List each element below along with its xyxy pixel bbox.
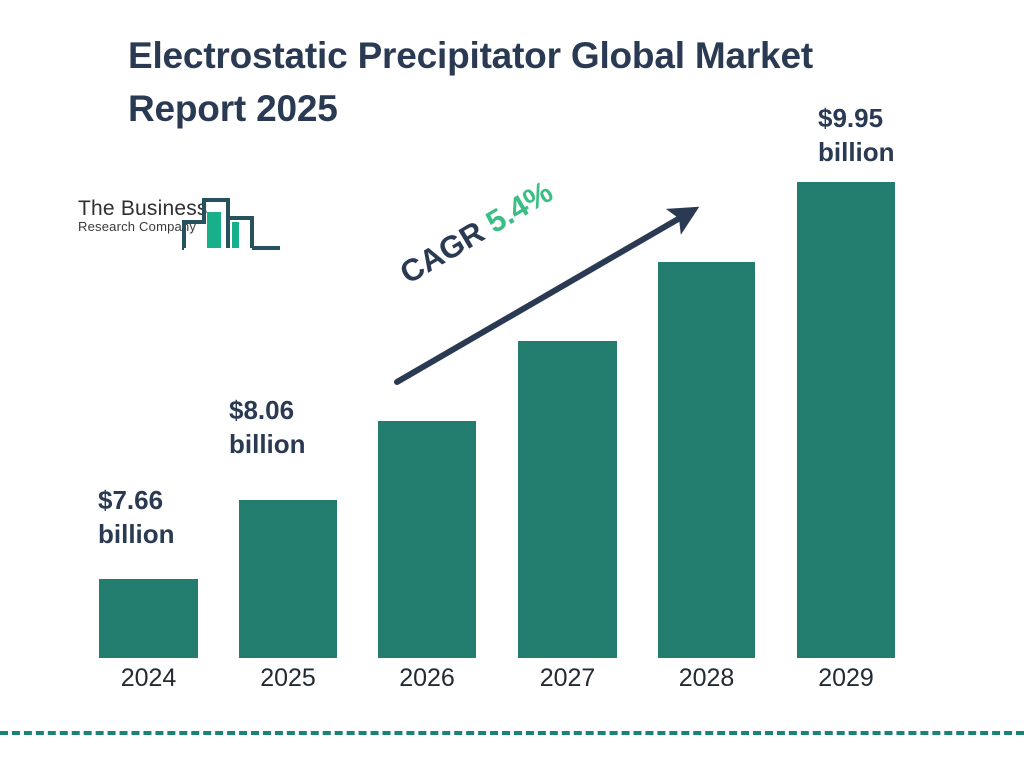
footer-divider — [0, 731, 1024, 735]
chart-page: Electrostatic Precipitator Global Market… — [0, 0, 1024, 768]
xtick-2029: 2029 — [797, 664, 895, 693]
xtick-2026: 2026 — [378, 664, 476, 693]
xtick-2025: 2025 — [239, 664, 337, 693]
xtick-2027: 2027 — [518, 664, 617, 693]
bar-chart-plot-area: $7.66 billion $8.06 billion $9.95 billio… — [0, 0, 1024, 768]
xtick-2024: 2024 — [99, 664, 198, 693]
xtick-2028: 2028 — [658, 664, 755, 693]
growth-trend-arrow-icon — [0, 0, 1024, 768]
